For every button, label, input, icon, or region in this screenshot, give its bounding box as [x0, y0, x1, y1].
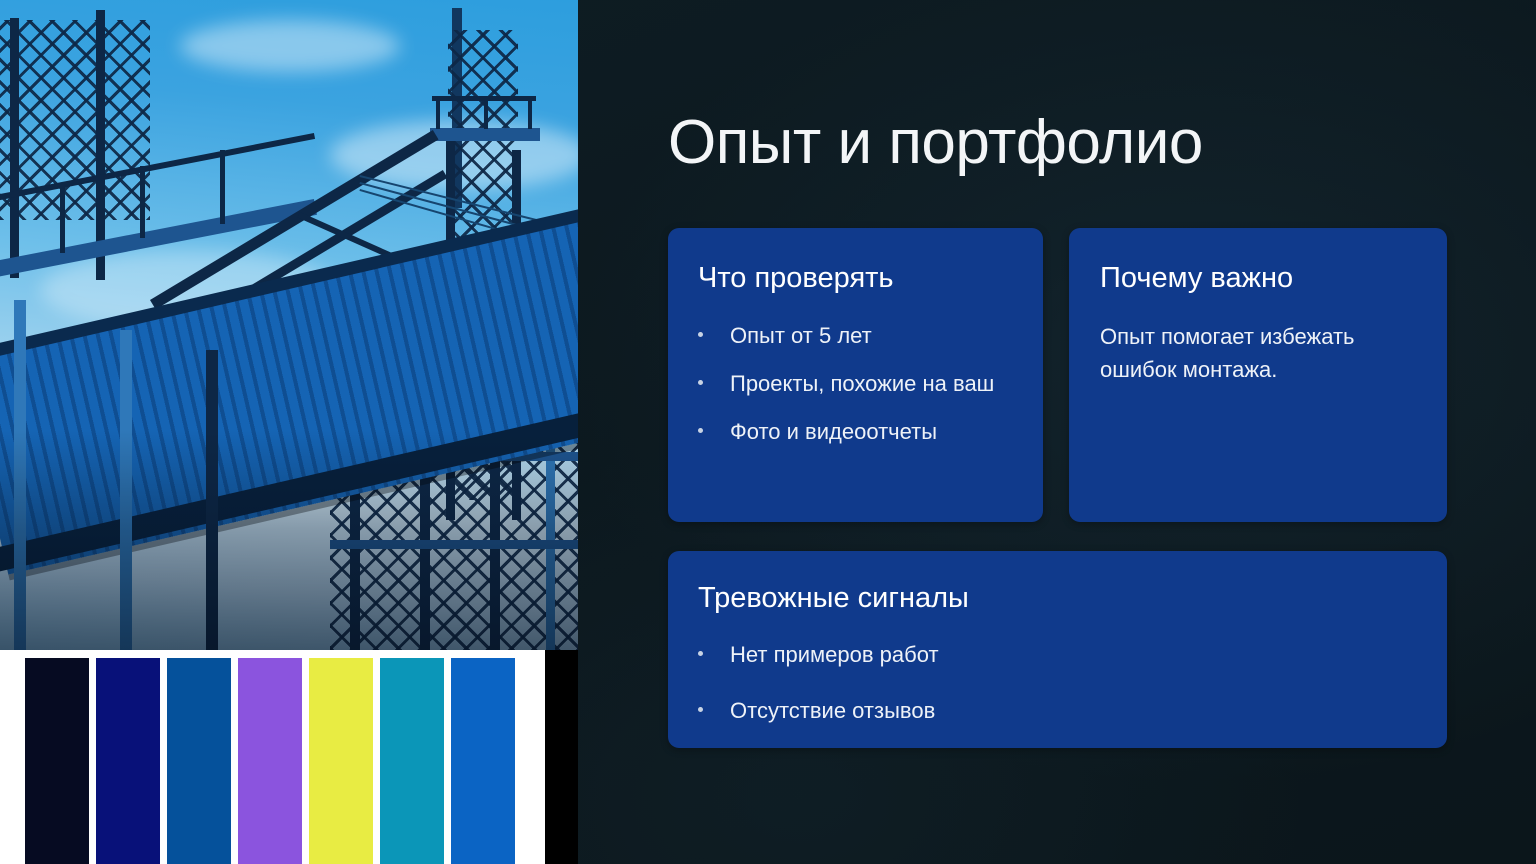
list-item: Опыт от 5 лет	[692, 320, 1022, 352]
list-item: Отсутствие отзывов	[692, 695, 1392, 727]
swatch-navy-black	[25, 658, 89, 864]
photo-column	[0, 0, 578, 864]
steel-railing-post	[484, 96, 488, 129]
steel-railing-post	[436, 96, 440, 129]
card-red-flags[interactable]: Тревожные сигналы Нет примеров работ Отс…	[668, 551, 1447, 748]
list-item: Фото и видеоотчеты	[692, 416, 1022, 448]
cloud-shape	[180, 20, 400, 72]
swatch-yellow	[309, 658, 373, 864]
card-why-important[interactable]: Почему важно Опыт помогает избежать ошиб…	[1069, 228, 1447, 522]
steel-railing-post	[528, 96, 532, 129]
swatch-blue	[167, 658, 231, 864]
bullet-dot-icon	[698, 380, 703, 385]
swatch-row	[25, 658, 515, 864]
card-title: Почему важно	[1100, 261, 1293, 296]
swatch-teal	[380, 658, 444, 864]
steel-platform	[430, 128, 540, 141]
steel-handrail-post	[220, 150, 225, 224]
list-item-label: Фото и видеоотчеты	[730, 419, 937, 444]
swatch-deep-navy	[96, 658, 160, 864]
card-title: Тревожные сигналы	[698, 581, 969, 616]
list-item: Нет примеров работ	[692, 639, 1392, 671]
swatch-purple	[238, 658, 302, 864]
bullet-dot-icon	[698, 332, 703, 337]
steel-handrail-post	[140, 166, 145, 238]
steel-column	[10, 18, 19, 278]
bullet-dot-icon	[698, 651, 703, 656]
slide-title: Опыт и портфолио	[668, 108, 1438, 177]
palette-end-block	[545, 650, 578, 864]
swatch-bright-blue	[451, 658, 515, 864]
hero-photo-industrial-structure	[0, 0, 578, 650]
list-item-label: Опыт от 5 лет	[730, 323, 872, 348]
bullet-list: Нет примеров работ Отсутствие отзывов	[692, 639, 1392, 751]
card-title: Что проверять	[698, 261, 894, 296]
list-item-label: Нет примеров работ	[730, 642, 939, 667]
bullet-dot-icon	[698, 428, 703, 433]
steel-handrail-post	[60, 183, 65, 253]
photo-shadow-overlay	[0, 430, 578, 650]
card-body-text: Опыт помогает избежать ошибок монтажа.	[1100, 320, 1400, 387]
list-item-label: Отсутствие отзывов	[730, 698, 935, 723]
bullet-list: Опыт от 5 лет Проекты, похожие на ваш Фо…	[692, 320, 1022, 464]
bullet-dot-icon	[698, 707, 703, 712]
card-what-to-check[interactable]: Что проверять Опыт от 5 лет Проекты, пох…	[668, 228, 1043, 522]
list-item-label: Проекты, похожие на ваш	[730, 371, 994, 396]
presentation-slide: Опыт и портфолио Что проверять Опыт от 5…	[0, 0, 1536, 864]
list-item: Проекты, похожие на ваш	[692, 368, 1022, 400]
color-palette-strip	[0, 650, 578, 864]
